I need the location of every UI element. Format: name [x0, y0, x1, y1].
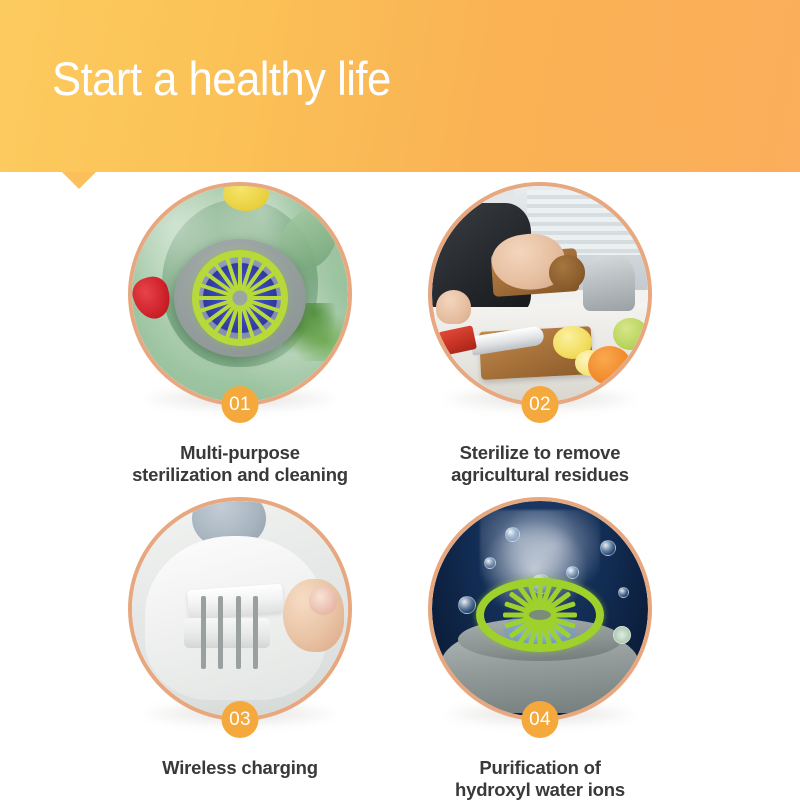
feature-photo-01 [128, 182, 352, 406]
lime [613, 318, 648, 350]
feature-grid: 01 Multi-purpose sterilization and clean… [0, 172, 800, 800]
bubble [600, 540, 616, 556]
feature-photo-02 [428, 182, 652, 406]
citrus-juicer [583, 255, 635, 311]
badge-number-01: 01 [222, 386, 259, 423]
scene-vegetables-in-water [132, 186, 348, 402]
device-wheel-icon [192, 250, 288, 346]
feature-card-04[interactable]: 04 Purification of hydroxyl water ions [410, 497, 670, 801]
feature-card-03[interactable]: 03 Wireless charging [110, 497, 370, 779]
badge-number-04: 04 [522, 701, 559, 738]
caption-line-2: hydroxyl water ions [410, 779, 670, 801]
status-indicator-icon [613, 626, 631, 644]
caption-line-2: agricultural residues [410, 464, 670, 486]
feature-card-01[interactable]: 01 Multi-purpose sterilization and clean… [110, 182, 370, 486]
feature-card-02[interactable]: 02 Sterilize to remove agricultural resi… [410, 182, 670, 486]
badge-number-02: 02 [522, 386, 559, 423]
port-pin [201, 596, 206, 669]
scene-underwater-purification [432, 501, 648, 717]
scene-kitchen-fruit-prep [432, 186, 648, 402]
kiwi-fruit [549, 255, 586, 290]
port-pin [218, 596, 223, 669]
caption-line-1: Purification of [410, 757, 670, 779]
feature-caption-03: Wireless charging [110, 757, 370, 779]
feature-caption-02: Sterilize to remove agricultural residue… [410, 442, 670, 486]
badge-number-03: 03 [222, 701, 259, 738]
wheel-hub [229, 288, 250, 309]
device-wheel-icon [476, 578, 604, 652]
feature-image-wrap-04: 04 [428, 497, 652, 721]
feature-caption-04: Purification of hydroxyl water ions [410, 757, 670, 801]
feature-image-wrap-01: 01 [128, 182, 352, 406]
port-pin [253, 596, 258, 669]
scene-wireless-charging [132, 501, 348, 717]
feature-photo-03 [128, 497, 352, 721]
bubble [566, 566, 579, 579]
bubble [618, 587, 629, 598]
page-title: Start a healthy life [52, 52, 391, 106]
second-hand [436, 290, 471, 325]
caption-line-1: Sterilize to remove [410, 442, 670, 464]
port-pin [236, 596, 241, 669]
feature-image-wrap-02: 02 [428, 182, 652, 406]
header-banner: Start a healthy life [0, 0, 800, 172]
feature-photo-04 [428, 497, 652, 721]
feature-image-wrap-03: 03 [128, 497, 352, 721]
bubble [484, 557, 496, 569]
feature-caption-01: Multi-purpose sterilization and cleaning [110, 442, 370, 486]
bubble [458, 596, 476, 614]
caption-line-1: Wireless charging [110, 757, 370, 779]
caption-line-2: sterilization and cleaning [110, 464, 370, 486]
orange [588, 346, 631, 385]
caption-line-1: Multi-purpose [110, 442, 370, 464]
